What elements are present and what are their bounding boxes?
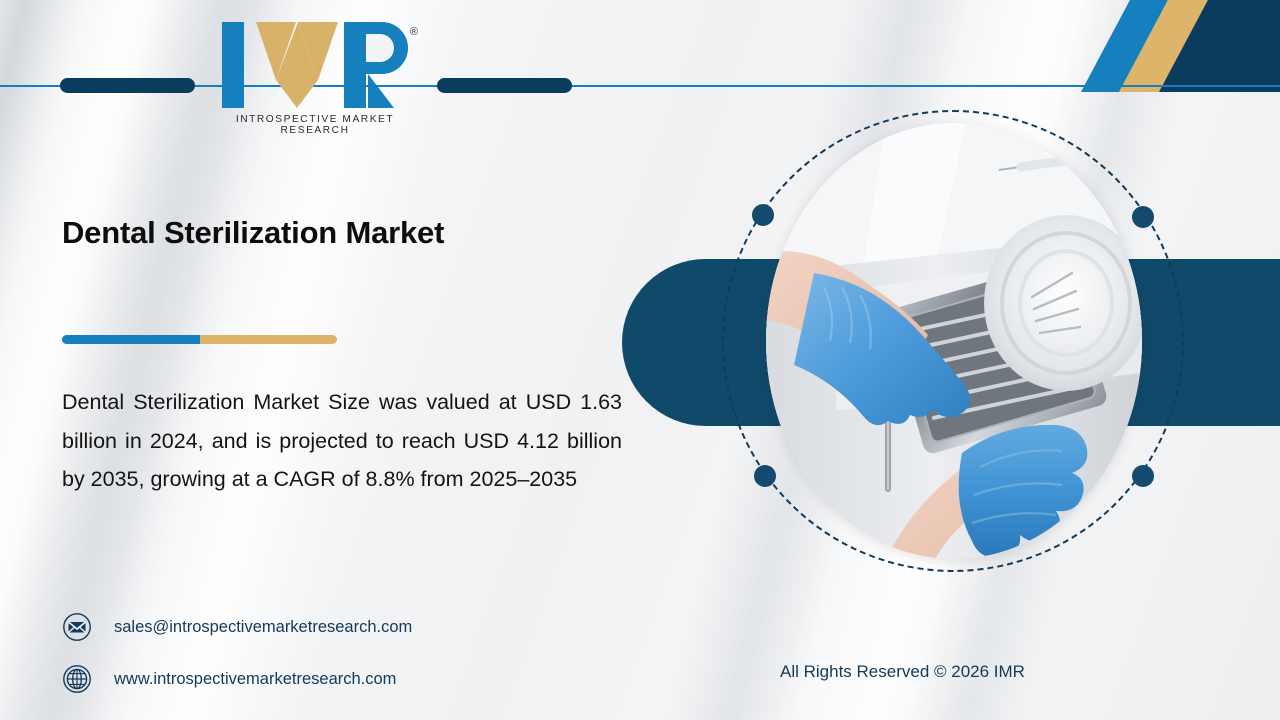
market-summary-text: Dental Sterilization Market Size was val… (62, 383, 622, 499)
accent-divider-bar (62, 335, 337, 344)
photo-composition (722, 110, 1184, 572)
contact-website[interactable]: www.introspectivemarketresearch.com (62, 664, 396, 694)
ring-dot-top-right (1132, 206, 1154, 228)
logo-tagline: INTROSPECTIVE MARKET RESEARCH (206, 114, 424, 136)
hero-photo (766, 123, 1142, 559)
envelope-icon (62, 612, 92, 642)
website-url[interactable]: www.introspectivemarketresearch.com (114, 670, 396, 689)
ring-dot-bottom-left (754, 465, 776, 487)
ring-dot-bottom-right (1132, 465, 1154, 487)
page-title: Dental Sterilization Market (62, 215, 622, 251)
copyright-notice: All Rights Reserved © 2026 IMR (780, 662, 1025, 682)
contact-email[interactable]: sales@introspectivemarketresearch.com (62, 612, 412, 642)
registered-trademark-icon: ® (410, 26, 418, 38)
ring-dot-top-left (752, 204, 774, 226)
marketing-banner: ® INTROSPECTIVE MARKET RESEARCH Dental S… (0, 0, 1280, 720)
header-bar-left (60, 78, 195, 93)
email-address[interactable]: sales@introspectivemarketresearch.com (114, 618, 412, 637)
globe-icon (62, 664, 92, 694)
corner-ribbon (1070, 0, 1280, 92)
accent-segment-gold (200, 335, 338, 344)
imr-logo[interactable]: ® INTROSPECTIVE MARKET RESEARCH (206, 22, 424, 140)
header-bar-right (437, 78, 572, 93)
logo-mark: ® (220, 22, 410, 108)
accent-segment-blue (62, 335, 200, 344)
